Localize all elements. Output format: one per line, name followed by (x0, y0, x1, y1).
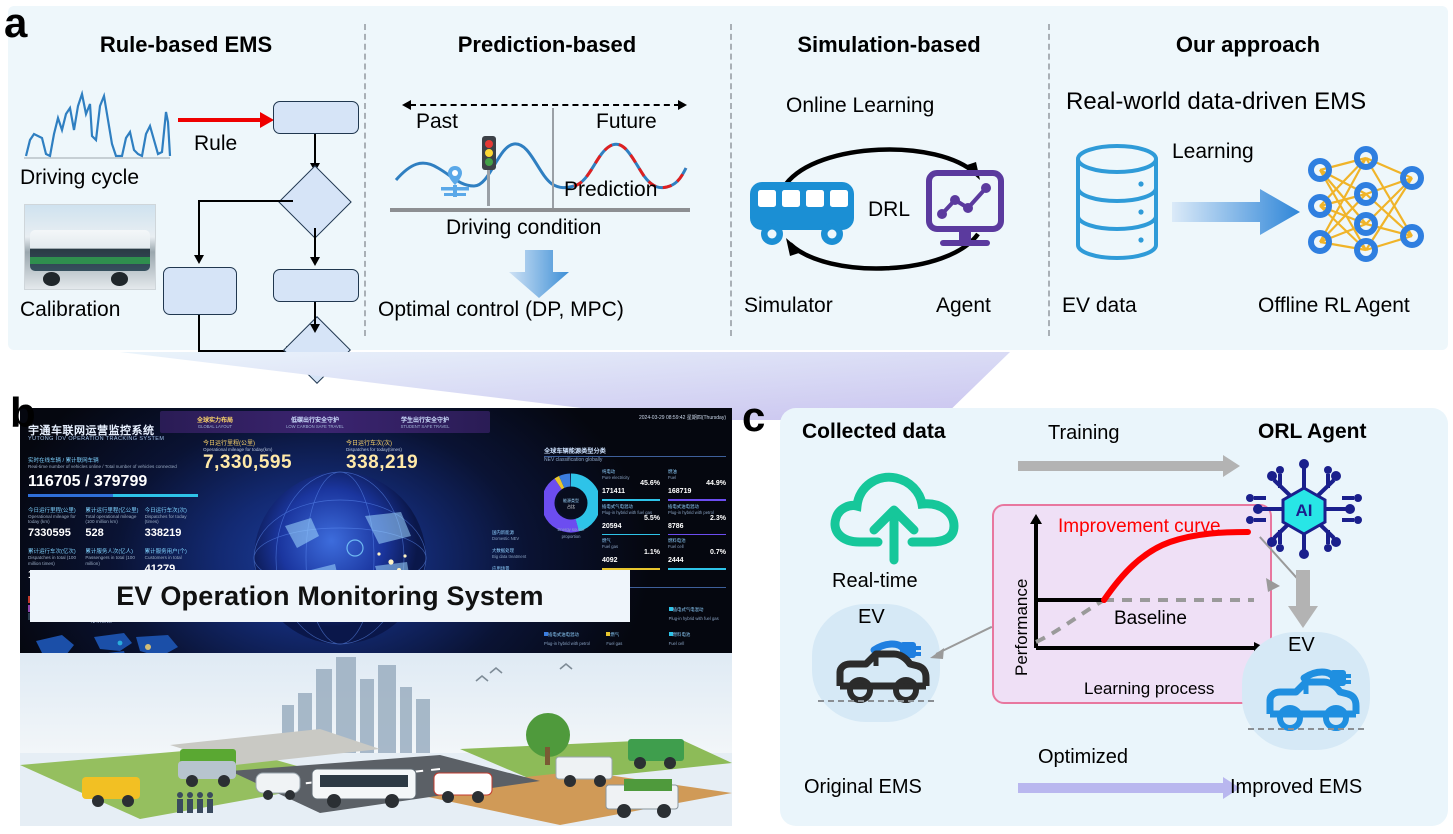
collected-data-title: Collected data (802, 420, 946, 444)
training-arrow-head (1223, 455, 1240, 477)
nav-item-global-layout[interactable]: 全球实力布局 GLOBAL LAYOUT (178, 415, 252, 429)
nev-stat-en: Plug-in hybrid with fuel gas (602, 510, 660, 515)
nev-stat: 纯电动 Pure electricity 17141145.6% (602, 469, 660, 501)
nev-stat-pct: 0.7% (710, 549, 726, 556)
nev-stat: 燃气 Fuel gas 40921.1% (602, 538, 660, 570)
dashboard-timestamp: 2024-03-29 08:59:42 星期四(Thursday) (639, 414, 726, 421)
legend-cn: 插电式气电混动 (673, 607, 704, 612)
column-prediction-based: Prediction-based Past Future Pre (364, 6, 730, 350)
svg-text:能源类型: 能源类型 (563, 497, 579, 503)
nev-stat-pct: 44.9% (706, 480, 726, 487)
kpi-cell: 今日运行车次(次) Dispatches for today (times) 3… (145, 506, 198, 539)
kpi-cn: 累计运行车次(亿次) (28, 547, 79, 555)
flow-arrow-branch (194, 255, 204, 264)
online-block-en: Real-time number of vehicles online / To… (28, 464, 198, 470)
legend-cn: 燃料电池 (673, 632, 691, 637)
nav-item-cn: 低碳出行安全守护 (266, 415, 364, 424)
driving-condition-caption: Driving condition (446, 216, 601, 240)
kpi-cell: 累计运行里程(亿公里) Total operational mileage (1… (85, 506, 138, 539)
trend-legend-item: 插电式气电混动Plug-in hybrid with fuel gas (669, 598, 726, 621)
kpi-en: Dispatches for today (times) (145, 514, 198, 525)
column-title-our-approach: Our approach (1048, 32, 1448, 58)
intersection-pin-icon (438, 164, 472, 198)
optimized-arrow-body (1018, 783, 1224, 793)
kpi-cn: 今日运行里程(公里) (28, 506, 79, 514)
ev-data-database-icon (1074, 144, 1160, 260)
traffic-light-icon (479, 134, 499, 206)
nev-stat-value: 168719 (668, 488, 691, 495)
nev-stat-pct: 2.3% (710, 515, 726, 522)
kpi-en: Passengers in total (100 million) (85, 555, 138, 566)
kpi-en: Dispatches in total (100 million times) (28, 555, 79, 566)
ev-car-black-icon (826, 634, 936, 706)
chart-to-ev-left-arrowhead (930, 646, 948, 664)
flow-line-branch-h (198, 200, 293, 202)
agent-caption: Agent (936, 294, 991, 318)
training-arrow-body (1018, 461, 1224, 471)
nev-stat-pct: 5.5% (644, 515, 660, 522)
driving-cycle-caption: Driving cycle (20, 166, 139, 190)
panel-a-methods-overview: Rule-based EMS Driving cycle Calibration… (8, 6, 1448, 350)
nav-item-cn: 学生出行安全守护 (376, 415, 474, 424)
nev-stat: 插电式油电混动 Plug-in hybrid with petrol 87862… (668, 504, 726, 536)
nev-stat-value: 171411 (602, 488, 625, 495)
nev-stat-value: 2444 (668, 557, 684, 564)
ground-line (390, 208, 690, 212)
realtime-label: Real-time (832, 570, 918, 593)
side-item[interactable]: 国内新能源 Domestic NEV (492, 530, 540, 541)
agent-monitor-icon (926, 170, 1004, 252)
online-learning-label: Online Learning (786, 94, 934, 118)
kpi-cell: 今日运行里程(公里) Operational mileage for today… (28, 506, 79, 539)
dashboard-left-kpis: 实时在线车辆 / 累计联网车辆 Real-time number of vehi… (28, 456, 198, 680)
nev-stat-value: 8786 (668, 523, 684, 530)
timeline-arrow-left (402, 100, 411, 110)
flow-arrow-4 (310, 324, 320, 333)
column-simulation-based: Simulation-based Online Learning DRL (730, 6, 1048, 350)
optimal-control-label: Optimal control (DP, MPC) (378, 298, 624, 322)
flow-box-3 (273, 269, 359, 302)
down-arrow-gradient (506, 250, 572, 300)
nav-item-student-safe[interactable]: 学生出行安全守护 STUDENT SAFE TRAVEL (376, 415, 474, 429)
side-item-en: Big data treatment (492, 554, 540, 559)
orl-to-ev-arrow-body (1296, 570, 1310, 608)
nav-item-en: LOW CARBON SAFE TRAVEL (266, 424, 364, 429)
nev-stat: 燃油 Fuel 16871944.9% (668, 469, 726, 501)
cloud-upload-icon (826, 460, 962, 570)
chart-to-ev-right-arrowhead (1264, 578, 1282, 596)
side-item[interactable]: 大数据处理 Big data treatment (492, 548, 540, 559)
flow-arrow-2 (310, 257, 320, 266)
column-title-prediction-based: Prediction-based (364, 32, 730, 58)
hero-cn: 今日运行里程(公里) (203, 438, 292, 447)
training-label: Training (1048, 422, 1120, 445)
kpi-en: Operational mileage for today (km) (28, 514, 79, 525)
simulator-bus-icon (748, 176, 860, 250)
flow-line-3v (198, 315, 200, 352)
prediction-label: Prediction (564, 178, 657, 202)
original-ems-label: Original EMS (804, 776, 922, 799)
column-title-rule-based: Rule-based EMS (8, 32, 364, 58)
ev-left-ground-dashline (818, 700, 934, 702)
improved-ems-label: Improved EMS (1230, 776, 1362, 799)
orl-agent-title: ORL Agent (1258, 420, 1367, 444)
ev-data-caption: EV data (1062, 294, 1137, 318)
nev-stat-pct: 1.1% (644, 549, 660, 556)
flow-box-1 (273, 101, 359, 134)
improvement-curve-plot: Improvement curve Baseline (1018, 514, 1268, 672)
trend-legend-item: 燃气Fuel gas (606, 623, 663, 646)
online-block-cn: 实时在线车辆 / 累计联网车辆 (28, 456, 198, 464)
trend-legend-item: 燃料电池Fuel cell (669, 623, 726, 646)
learning-gradient-arrow (1172, 188, 1302, 236)
trend-legend-item: 插电式油电混动Plug-in hybrid with petrol (544, 623, 601, 646)
improvement-chart-card: Performance Improvement curve Baseline L… (992, 504, 1272, 704)
flow-box-2 (163, 267, 237, 315)
kpi-cn: 累计服务人次(亿人) (85, 547, 138, 555)
offline-rl-agent-caption: Offline RL Agent (1258, 294, 1410, 318)
city-vehicles-photo (20, 653, 732, 826)
orl-to-ev-arrow-head (1288, 606, 1318, 628)
timeline-dashed-line (410, 104, 680, 106)
nav-item-en: GLOBAL LAYOUT (178, 424, 252, 429)
ev-car-blue-icon (1256, 662, 1366, 734)
hero-cn: 今日运行车次(次) (346, 438, 418, 447)
svg-text:Baseline: Baseline (1114, 608, 1187, 629)
panel-label-c: c (742, 396, 765, 438)
dashboard-navbar[interactable]: 全球实力布局 GLOBAL LAYOUT 低碳出行安全守护 LOW CARBON… (160, 411, 490, 433)
energy-source-donut-chart: 能源类型 占比 Energy source proportion (544, 469, 598, 545)
svg-text:Energy source: Energy source (558, 527, 586, 532)
ai-network-icon: AI (1240, 454, 1368, 564)
nev-stat: 燃料电池 Fuel cell 24440.7% (668, 538, 726, 570)
kpi-cn: 今日运行车次(次) (145, 506, 198, 514)
globe-graphic (215, 466, 485, 656)
panel-c-framework: Collected data ORL Agent Real-time EV Or… (780, 408, 1448, 826)
kpi-value: 338219 (145, 527, 198, 539)
chart-xlabel: Learning process (1084, 679, 1214, 699)
rule-arrow-label: Rule (194, 132, 237, 156)
svg-text:Improvement curve: Improvement curve (1058, 516, 1221, 537)
ev-right-ground-dashline (1248, 728, 1364, 730)
svg-text:占比: 占比 (567, 503, 575, 509)
legend-en: Plug-in hybrid with petrol (544, 641, 601, 646)
nev-stat-value: 20594 (602, 523, 621, 530)
online-block-value: 116705 / 379799 (28, 473, 198, 491)
nev-section-en: NEV classification globally (544, 457, 726, 463)
flow-line-1 (314, 134, 316, 164)
ev-right-label: EV (1288, 634, 1315, 657)
optimized-label: Optimized (1038, 746, 1128, 769)
learning-arrow-label: Learning (1172, 140, 1254, 164)
nev-stat: 插电式气电混动 Plug-in hybrid with fuel gas 205… (602, 504, 660, 536)
svg-text:proportion: proportion (562, 534, 582, 539)
side-item-en: Domestic NEV (492, 536, 540, 541)
panel-label-a: a (4, 2, 27, 44)
ai-badge-text: AI (1296, 501, 1313, 520)
bus-photo-calibration (24, 204, 156, 290)
nev-stat-value: 4092 (602, 557, 618, 564)
flow-line-branch-v (198, 200, 200, 256)
ev-monitoring-banner: EV Operation Monitoring System (30, 570, 630, 622)
legend-cn: 燃气 (610, 632, 619, 637)
column-title-simulation-based: Simulation-based (730, 32, 1048, 58)
panel-label-b: b (10, 392, 36, 434)
calibration-caption: Calibration (20, 298, 120, 322)
nav-item-cn: 全球实力布局 (178, 415, 252, 424)
kpi-en: Customers in total (145, 555, 198, 561)
driving-cycle-chart (22, 84, 172, 164)
present-divider (552, 108, 554, 208)
kpi-en: Total operational mileage (100 million k… (85, 514, 138, 525)
legend-en: Fuel cell (669, 641, 726, 646)
timeline-arrow-right (678, 100, 687, 110)
nav-item-en: STUDENT SAFE TRAVEL (376, 424, 474, 429)
legend-en: Fuel gas (606, 641, 663, 646)
rule-arrow-line (178, 118, 262, 122)
ev-left-label: EV (858, 606, 885, 629)
column-our-approach: Our approach Real-world data-driven EMS … (1048, 6, 1448, 350)
approach-subtitle: Real-world data-driven EMS (1066, 88, 1366, 116)
kpi-cn: 累计服务用户(个) (145, 547, 198, 555)
offline-rl-neural-network-icon (1298, 146, 1434, 264)
drl-label: DRL (868, 198, 910, 222)
kpi-value: 7330595 (28, 527, 79, 539)
dashboard-title-en: YUTONG IOV OPERATION TRACKING SYSTEM (28, 436, 164, 442)
simulator-caption: Simulator (744, 294, 833, 318)
flow-line-2 (314, 228, 316, 258)
kpi-cn: 累计运行里程(亿公里) (85, 506, 138, 514)
ev-monitoring-banner-text: EV Operation Monitoring System (116, 581, 544, 612)
nev-section-cn: 全球车辆能源类型分类 (544, 446, 726, 457)
nev-stat-pct: 45.6% (640, 480, 660, 487)
legend-cn: 插电式油电混动 (548, 632, 579, 637)
legend-en: Plug-in hybrid with fuel gas (669, 616, 726, 621)
kpi-value: 528 (85, 527, 138, 539)
column-rule-based: Rule-based EMS Driving cycle Calibration… (8, 6, 364, 350)
nav-item-low-carbon[interactable]: 低碳出行安全守护 LOW CARBON SAFE TRAVEL (266, 415, 364, 429)
rule-arrow-head (260, 112, 274, 128)
